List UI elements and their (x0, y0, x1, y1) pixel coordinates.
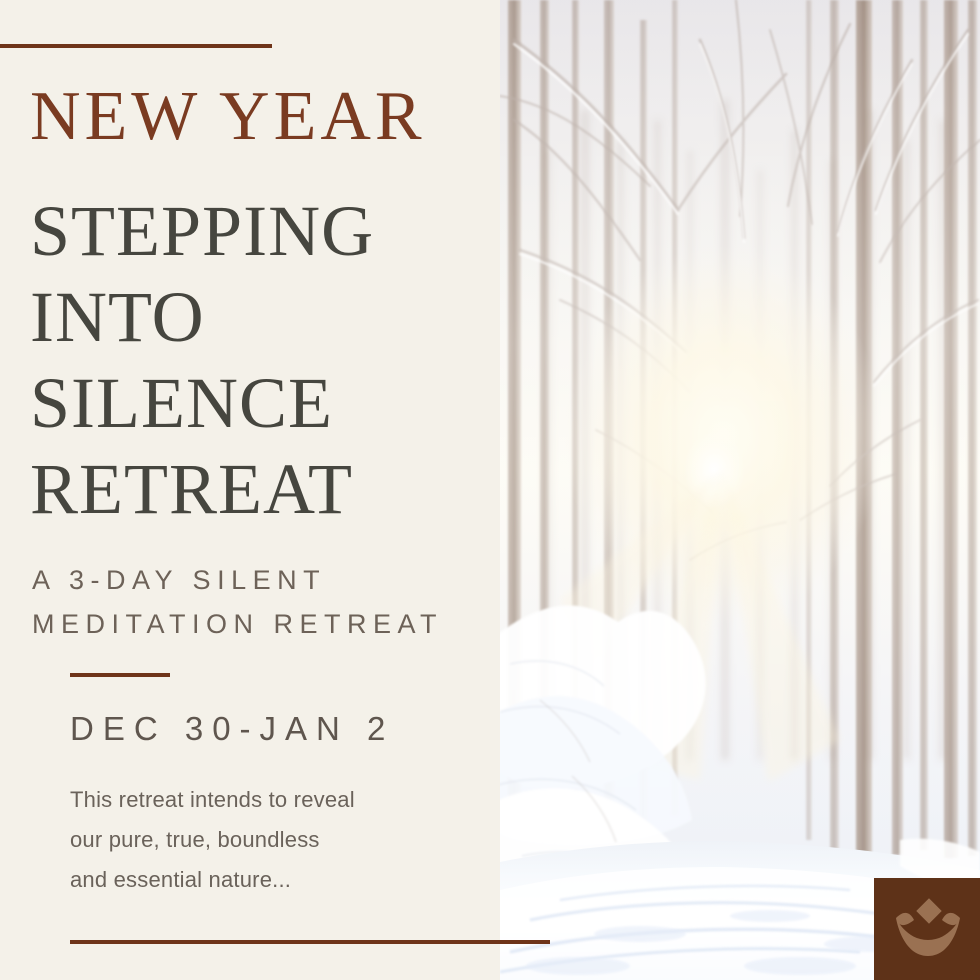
body-line-2: our pure, true, boundless (70, 820, 355, 860)
event-dates: DEC 30-JAN 2 (70, 707, 394, 751)
subtitle-line-2: MEDITATION RETREAT (32, 602, 443, 646)
bottom-divider-rule (70, 940, 550, 944)
bowl-and-diamond-icon (874, 878, 980, 980)
winter-forest-photo (500, 0, 980, 980)
headline-line-3: SILENCE (30, 360, 374, 446)
headline-brand: NEW YEAR (30, 78, 426, 156)
subtitle-line-1: A 3-DAY SILENT (32, 558, 443, 602)
body-copy: This retreat intends to reveal our pure,… (70, 780, 355, 900)
winter-forest-illustration (500, 0, 980, 980)
text-panel: NEW YEAR STEPPING INTO SILENCE RETREAT A… (0, 0, 500, 980)
date-divider-rule (70, 673, 170, 677)
headline-line-2: INTO (30, 274, 374, 360)
headline-line-4: RETREAT (30, 446, 374, 532)
body-line-3: and essential nature... (70, 860, 355, 900)
headline-line-1: STEPPING (30, 188, 374, 274)
brand-logo (874, 878, 980, 980)
poster-canvas: NEW YEAR STEPPING INTO SILENCE RETREAT A… (0, 0, 980, 980)
headline-main: STEPPING INTO SILENCE RETREAT (30, 188, 374, 532)
subtitle: A 3-DAY SILENT MEDITATION RETREAT (32, 558, 443, 646)
body-line-1: This retreat intends to reveal (70, 780, 355, 820)
top-divider-rule (0, 44, 272, 48)
